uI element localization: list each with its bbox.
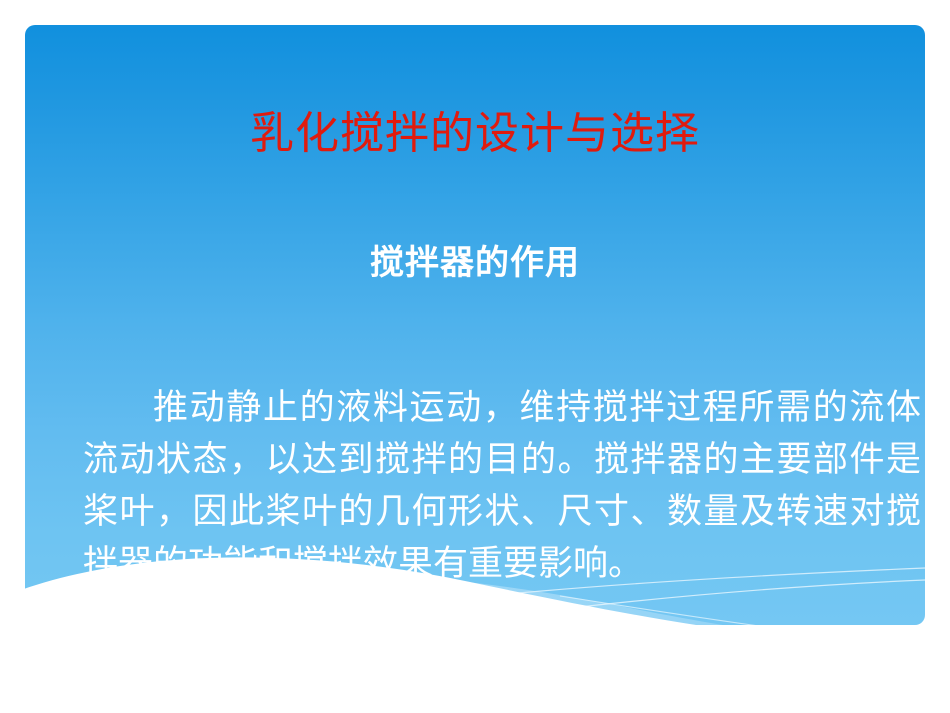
slide-background-panel: 乳化搅拌的设计与选择 搅拌器的作用 推动静止的液料运动，维持搅拌过程所需的流体流…: [25, 25, 925, 625]
slide-canvas: 乳化搅拌的设计与选择 搅拌器的作用 推动静止的液料运动，维持搅拌过程所需的流体流…: [0, 0, 950, 713]
section-subtitle: 搅拌器的作用: [25, 243, 925, 284]
page-title: 乳化搅拌的设计与选择: [25, 109, 925, 160]
body-paragraph: 推动静止的液料运动，维持搅拌过程所需的流体流动状态，以达到搅拌的目的。搅拌器的主…: [83, 382, 921, 590]
